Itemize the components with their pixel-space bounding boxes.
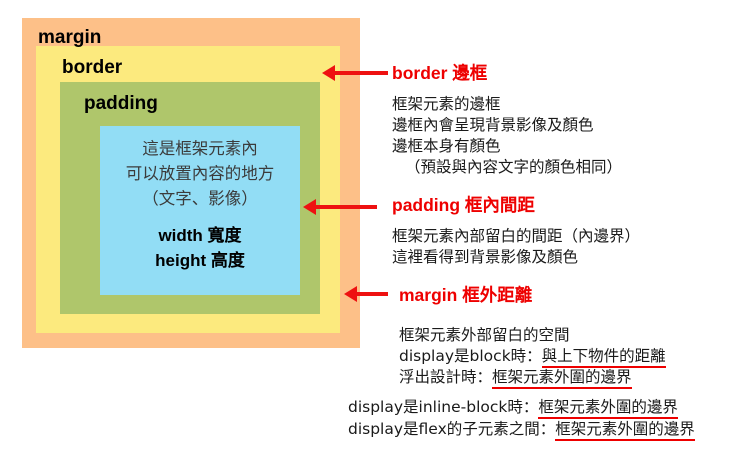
border-annotation-line-3: 邊框本身有顏色	[392, 136, 622, 157]
padding-annotation-body: 框架元素內部留白的間距（內邊界） 這裡看得到背景影像及顏色	[392, 226, 640, 268]
margin-line-2-prefix: display是block時：	[399, 347, 542, 365]
border-annotation-line-4: （預設與內容文字的顏色相同）	[392, 157, 622, 178]
content-box-text: 這是框架元素內 可以放置內容的地方 （文字、影像） width 寬度 heigh…	[100, 136, 300, 273]
margin-line-3-prefix: 浮出設計時：	[399, 368, 492, 386]
margin-box-label: margin	[38, 28, 101, 47]
border-annotation-body: 框架元素的邊框 邊框內會呈現背景影像及顏色 邊框本身有顏色 （預設與內容文字的顏…	[392, 94, 622, 178]
border-pointer-arrow-icon	[334, 71, 388, 75]
height-label: height 高度	[100, 248, 300, 273]
margin-annotation-line-1: 框架元素外部留白的空間	[399, 325, 666, 346]
extra-line-2-prefix: display是flex的子元素之間：	[348, 420, 555, 438]
box-model-diagram: margin border padding 這是框架元素內 可以放置內容的地方 …	[0, 0, 750, 461]
margin-annotation-line-2: display是block時：與上下物件的距離	[399, 346, 666, 367]
extra-line-2-underlined: 框架元素外圍的邊界	[555, 420, 695, 441]
margin-annotation: margin 框外距離 框架元素外部留白的空間 display是block時：與…	[399, 285, 666, 388]
padding-pointer-arrow-icon	[315, 205, 377, 209]
padding-annotation-title: padding 框內間距	[392, 195, 640, 217]
border-annotation-title: border 邊框	[392, 63, 622, 85]
margin-annotation-body: 框架元素外部留白的空間 display是block時：與上下物件的距離 浮出設計…	[399, 325, 666, 388]
padding-annotation: padding 框內間距 框架元素內部留白的間距（內邊界） 這裡看得到背景影像及…	[392, 195, 640, 268]
border-annotation: border 邊框 框架元素的邊框 邊框內會呈現背景影像及顏色 邊框本身有顏色 …	[392, 63, 622, 178]
extra-line-1-prefix: display是inline-block時：	[348, 398, 538, 416]
width-label: width 寬度	[100, 223, 300, 248]
content-line-3: （文字、影像）	[100, 186, 300, 211]
margin-line-3-underlined: 框架元素外圍的邊界	[492, 368, 632, 389]
margin-annotation-line-3: 浮出設計時：框架元素外圍的邊界	[399, 367, 666, 388]
border-box-label: border	[62, 58, 122, 77]
content-line-2: 可以放置內容的地方	[100, 161, 300, 186]
padding-annotation-line-1: 框架元素內部留白的間距（內邊界）	[392, 226, 640, 247]
content-line-1: 這是框架元素內	[100, 136, 300, 161]
extra-note-line-1: display是inline-block時：框架元素外圍的邊界	[348, 396, 695, 418]
padding-box-label: padding	[84, 94, 158, 113]
margin-pointer-arrow-icon	[356, 292, 388, 296]
border-annotation-line-2: 邊框內會呈現背景影像及顏色	[392, 115, 622, 136]
extra-notes: display是inline-block時：框架元素外圍的邊界 display是…	[348, 396, 695, 440]
extra-note-line-2: display是flex的子元素之間：框架元素外圍的邊界	[348, 418, 695, 440]
margin-annotation-title: margin 框外距離	[399, 285, 666, 307]
extra-line-1-underlined: 框架元素外圍的邊界	[538, 398, 678, 419]
border-annotation-line-1: 框架元素的邊框	[392, 94, 622, 115]
padding-annotation-line-2: 這裡看得到背景影像及顏色	[392, 247, 640, 268]
margin-line-2-underlined: 與上下物件的距離	[542, 347, 666, 368]
